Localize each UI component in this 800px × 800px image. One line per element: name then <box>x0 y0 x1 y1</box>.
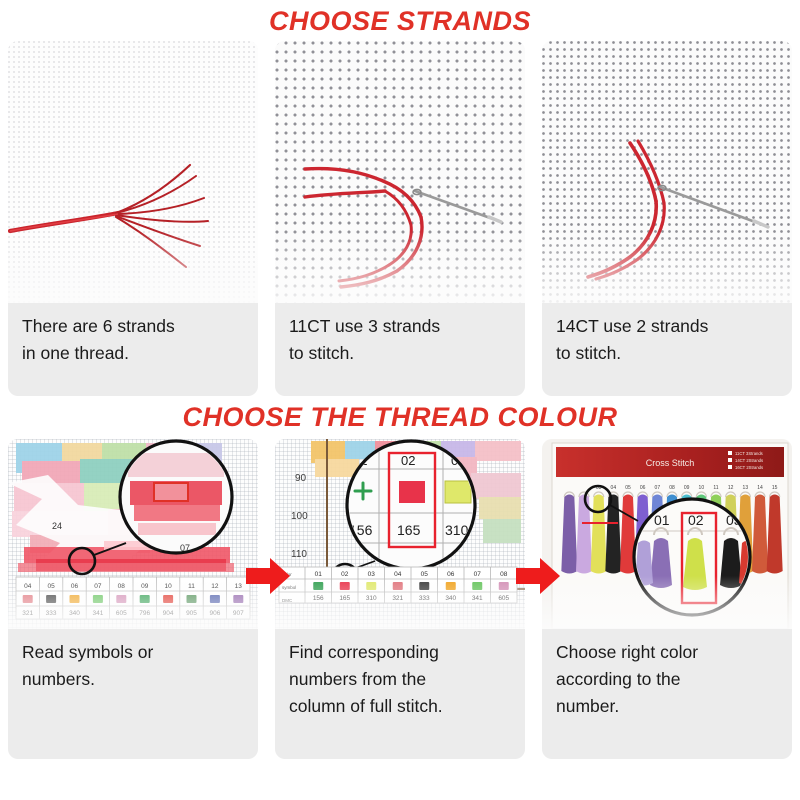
strands-card-row: There are 6 strands in one thread. <box>0 41 800 396</box>
thread-option-label: 16CT 2Strands <box>735 465 763 470</box>
red-right-arrow-icon <box>246 556 290 596</box>
legend-symbol <box>140 595 150 603</box>
needle-three-strands-illustration <box>275 41 525 303</box>
thread-code-label: 04 <box>611 485 617 491</box>
caption-six-strands: There are 6 strands in one thread. <box>8 303 258 367</box>
thread-code-label: 05 <box>625 485 631 491</box>
photo-pattern-numbers: 90 100 110 01 02 03 <box>275 439 525 629</box>
card-six-strands[interactable]: There are 6 strands in one thread. <box>8 41 258 396</box>
caption-14ct: 14CT use 2 strands to stitch. <box>542 303 792 367</box>
legend-symbol <box>446 582 456 590</box>
thread-code-label: 08 <box>669 485 675 491</box>
needle-two-strands-illustration <box>542 41 792 303</box>
legend-symbol <box>210 595 220 603</box>
legend-code: 06 <box>447 571 455 578</box>
svg-text:DMC: DMC <box>282 598 293 603</box>
legend-code: 07 <box>474 571 482 578</box>
legend-symbol <box>499 582 509 590</box>
thread-option-label: 11CT 3Strands <box>735 451 763 456</box>
svg-text:02: 02 <box>401 453 415 468</box>
thread-code-label: 09 <box>684 485 690 491</box>
caption-choose-color: Choose right color according to the numb… <box>542 629 792 720</box>
legend-code: 06 <box>71 583 79 590</box>
caption-line: Choose right color <box>556 639 778 666</box>
caption-line: to stitch. <box>556 340 778 367</box>
legend-number: 341 <box>92 610 103 617</box>
chart-row-label: 90 <box>295 473 307 484</box>
legend-code: 07 <box>94 583 102 590</box>
legend-code: 01 <box>315 571 323 578</box>
chart-cell-label: 07 <box>180 543 190 553</box>
photo-14ct-aida <box>542 41 792 303</box>
caption-11ct: 11CT use 3 strands to stitch. <box>275 303 525 367</box>
legend-number: 321 <box>22 610 33 617</box>
thread-colour-card-row: 24 07 0432105333063400734108605097961090… <box>0 439 800 759</box>
thread-code-label: 07 <box>655 485 661 491</box>
legend-symbol <box>340 582 350 590</box>
legend-number: 340 <box>69 610 80 617</box>
legend-number: 904 <box>163 610 174 617</box>
thread-code-label: 11 <box>713 485 718 491</box>
legend-number: 905 <box>186 610 197 617</box>
caption-line: 14CT use 2 strands <box>556 313 778 340</box>
caption-line: column of full stitch. <box>289 693 511 720</box>
legend-code: 11 <box>188 583 195 590</box>
legend-symbol <box>46 595 56 603</box>
thread-code-label: 15 <box>772 485 778 491</box>
legend-code: 03 <box>368 571 376 578</box>
legend-code: 05 <box>421 571 429 578</box>
page-title-choose-thread-colour: CHOOSE THE THREAD COLOUR <box>0 396 800 431</box>
card-find-numbers[interactable]: 90 100 110 01 02 03 <box>275 439 525 759</box>
caption-line: numbers. <box>22 666 244 693</box>
legend-code: 09 <box>141 583 149 590</box>
legend-code: 13 <box>235 583 243 590</box>
caption-line: in one thread. <box>22 340 244 367</box>
caption-line: to stitch. <box>289 340 511 367</box>
thread-option-label: 14CT 2Strands <box>735 458 763 463</box>
caption-line: number. <box>556 693 778 720</box>
legend-symbol <box>313 582 323 590</box>
red-right-arrow-icon <box>516 556 560 596</box>
legend-number: 165 <box>339 595 350 602</box>
pattern-number-chart-illustration: 90 100 110 01 02 03 <box>275 439 525 629</box>
caption-line: according to the <box>556 666 778 693</box>
legend-number: 605 <box>116 610 127 617</box>
photo-thread-card: Cross Stitch 11CT 3Strands14CT 2Strands1… <box>542 439 792 629</box>
legend-symbol <box>116 595 126 603</box>
legend-code: 05 <box>47 583 55 590</box>
legend-symbol <box>233 595 243 603</box>
legend-number: 310 <box>366 595 377 602</box>
legend-symbol <box>70 595 80 603</box>
photo-pattern-symbols: 24 07 0432105333063400734108605097961090… <box>8 439 258 629</box>
legend-number: 156 <box>313 595 324 602</box>
chart-row-label: 100 <box>291 511 308 522</box>
caption-line: 11CT use 3 strands <box>289 313 511 340</box>
legend-number: 333 <box>46 610 57 617</box>
legend-symbol <box>472 582 482 590</box>
legend-symbol <box>419 582 429 590</box>
legend-symbol <box>93 595 103 603</box>
caption-read-symbols: Read symbols or numbers. <box>8 629 258 693</box>
thread-card-illustration: Cross Stitch 11CT 3Strands14CT 2Strands1… <box>542 439 792 629</box>
thread-code-label: 10 <box>699 485 705 491</box>
caption-line: Find corresponding <box>289 639 511 666</box>
svg-text:01: 01 <box>654 512 670 528</box>
legend-number: 796 <box>139 610 150 617</box>
card-choose-color[interactable]: Cross Stitch 11CT 3Strands14CT 2Strands1… <box>542 439 792 759</box>
legend-number: 907 <box>233 610 244 617</box>
legend-code: 10 <box>164 583 172 590</box>
legend-number: 321 <box>392 595 403 602</box>
chart-cell-label: 24 <box>52 521 62 531</box>
thread-card-title: Cross Stitch <box>646 458 695 468</box>
legend-code: 12 <box>211 583 219 590</box>
legend-number: 333 <box>419 595 430 602</box>
card-14ct[interactable]: 14CT use 2 strands to stitch. <box>542 41 792 396</box>
legend-code: 08 <box>118 583 126 590</box>
legend-symbol <box>163 595 173 603</box>
thread-code-label: 14 <box>757 485 763 491</box>
thread-code-label: 12 <box>728 485 734 491</box>
legend-symbol <box>23 595 33 603</box>
caption-line: Read symbols or <box>22 639 244 666</box>
caption-find-numbers: Find corresponding numbers from the colu… <box>275 629 525 720</box>
card-read-symbols[interactable]: 24 07 0432105333063400734108605097961090… <box>8 439 258 759</box>
caption-line: numbers from the <box>289 666 511 693</box>
card-11ct[interactable]: 11CT use 3 strands to stitch. <box>275 41 525 396</box>
photo-11ct-aida <box>275 41 525 303</box>
legend-number: 605 <box>498 595 509 602</box>
svg-text:165: 165 <box>397 522 421 538</box>
legend-code: 04 <box>24 583 32 590</box>
legend-code: 02 <box>341 571 349 578</box>
legend-symbol <box>393 582 403 590</box>
legend-code: 04 <box>394 571 402 578</box>
legend-number: 340 <box>445 595 456 602</box>
pattern-chart-illustration: 24 07 0432105333063400734108605097961090… <box>8 439 258 629</box>
caption-line: There are 6 strands <box>22 313 244 340</box>
six-strands-illustration <box>8 41 258 303</box>
page-title-choose-strands: CHOOSE STRANDS <box>0 0 800 35</box>
thread-code-label: 13 <box>743 485 749 491</box>
thread-code-label: 06 <box>640 485 646 491</box>
legend-symbol <box>366 582 376 590</box>
chart-row-label: 110 <box>291 549 307 560</box>
legend-symbol <box>187 595 197 603</box>
legend-number: 906 <box>209 610 220 617</box>
svg-text:02: 02 <box>688 512 704 528</box>
legend-number: 341 <box>472 595 483 602</box>
legend-code: 08 <box>500 571 508 578</box>
photo-red-thread-six-strands <box>8 41 258 303</box>
